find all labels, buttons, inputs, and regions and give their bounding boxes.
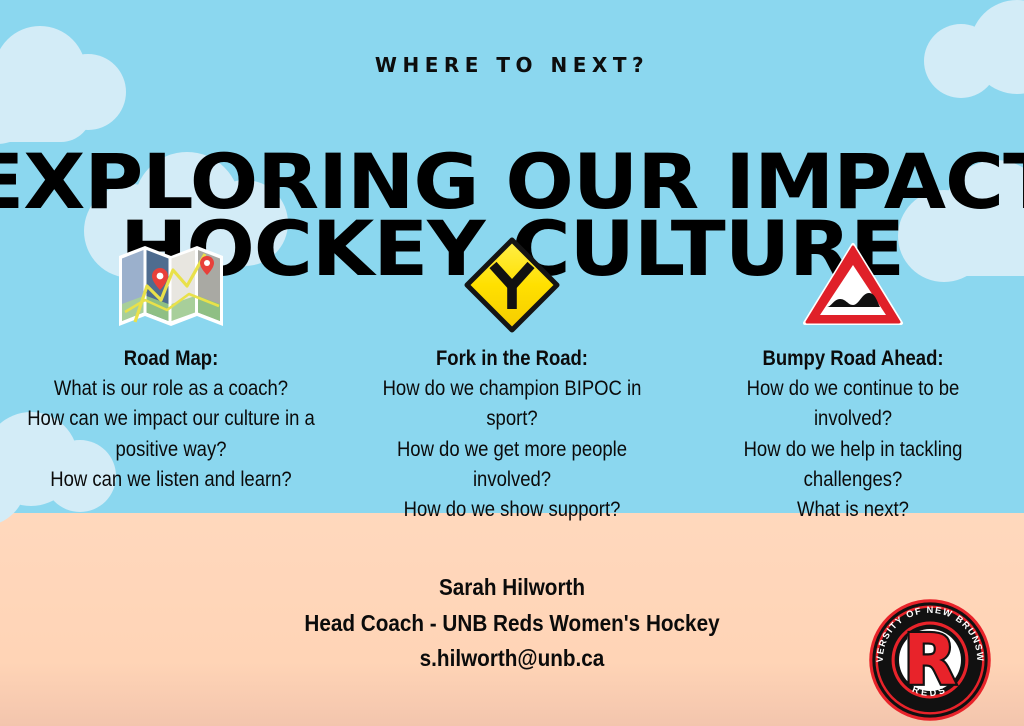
eyebrow-text: WHERE TO NEXT? <box>0 53 1024 77</box>
column-text-road-map: Road Map: What is our role as a coach? H… <box>25 344 315 495</box>
column-bumpy-road-ahead: Bumpy Road Ahead: How do we continue to … <box>682 240 1023 525</box>
column-line: How do we continue to be involved? <box>707 374 997 434</box>
column-line: How do we champion BIPOC in sport? <box>366 374 656 434</box>
column-text-bumpy: Bumpy Road Ahead: How do we continue to … <box>707 344 997 525</box>
column-line: How can we listen and learn? <box>25 465 315 495</box>
column-line: How can we impact our culture in a <box>25 404 315 434</box>
column-heading: Road Map: <box>25 344 315 374</box>
column-heading: Bumpy Road Ahead: <box>707 344 997 374</box>
column-line: How do we help in tackling challenges? <box>707 435 997 495</box>
folded-map-icon <box>115 240 227 330</box>
columns-row: Road Map: What is our role as a coach? H… <box>0 240 1024 525</box>
column-line: What is our role as a coach? <box>25 374 315 404</box>
column-line: How do we get more people involved? <box>366 435 656 495</box>
column-fork-in-the-road: Fork in the Road: How do we champion BIP… <box>341 240 682 525</box>
presenter-role: Head Coach - UNB Reds Women's Hockey <box>51 606 973 642</box>
column-line: How do we show support? <box>366 495 656 525</box>
unb-reds-logo: UNIVERSITY OF NEW BRUNSWICK REDS R <box>868 598 992 722</box>
logo-monogram: R <box>903 621 956 701</box>
presenter-name: Sarah Hilworth <box>51 570 973 606</box>
bumpy-road-sign-icon <box>801 240 905 330</box>
poster-canvas: WHERE TO NEXT? EXPLORING OUR IMPACT ON H… <box>0 0 1024 726</box>
presenter-email: s.hilworth@unb.ca <box>51 641 973 677</box>
column-text-fork: Fork in the Road: How do we champion BIP… <box>366 344 656 525</box>
column-heading: Fork in the Road: <box>366 344 656 374</box>
fork-road-sign-icon <box>462 240 562 330</box>
footer-contact: Sarah Hilworth Head Coach - UNB Reds Wom… <box>51 570 973 677</box>
column-line: What is next? <box>707 495 997 525</box>
column-road-map: Road Map: What is our role as a coach? H… <box>0 240 341 525</box>
column-line: positive way? <box>25 435 315 465</box>
